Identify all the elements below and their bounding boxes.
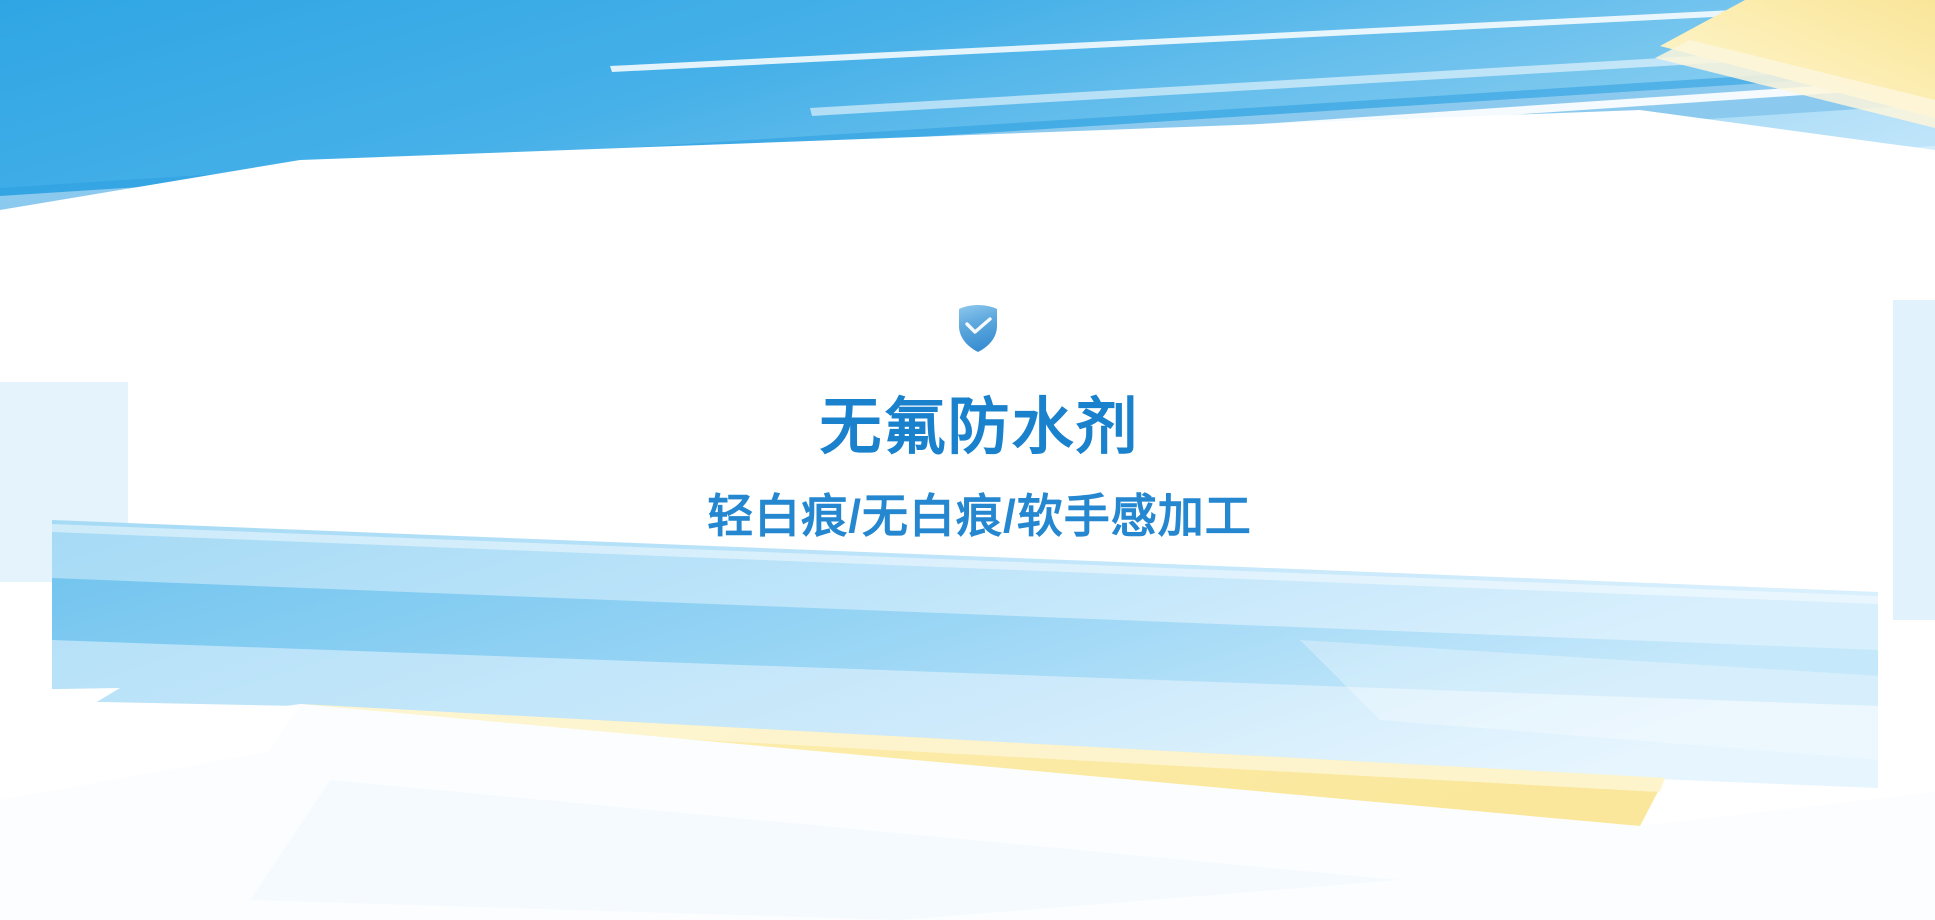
page-subtitle: 轻白痕/无白痕/软手感加工: [707, 493, 1252, 539]
shield-check-icon: [952, 302, 1004, 354]
product-banner: 无氟防水剂 轻白痕/无白痕/软手感加工: [0, 0, 1935, 920]
shield-check-icon-glyph: [952, 302, 1004, 354]
page-title: 无氟防水剂: [819, 397, 1139, 459]
